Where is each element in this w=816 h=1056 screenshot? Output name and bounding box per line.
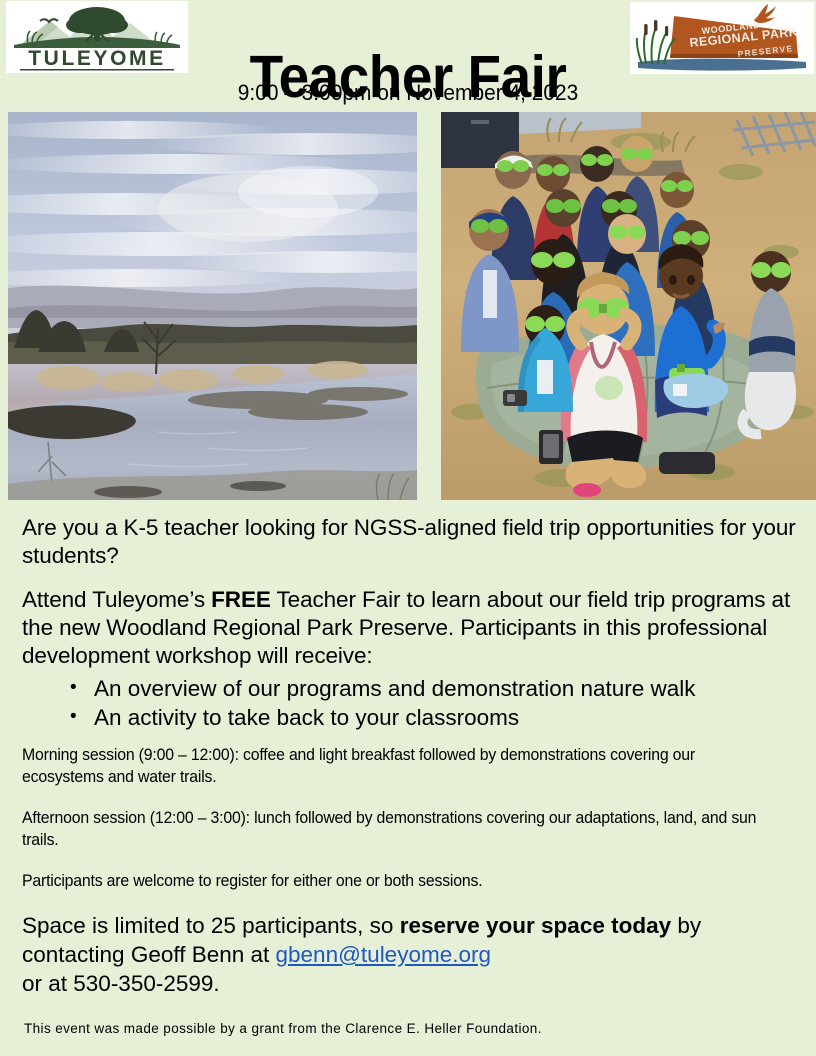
event-datetime: 9:00 – 3:00pm on November 4, 2023 [20, 80, 795, 106]
reserve-emphasis: reserve your space today [400, 913, 671, 938]
attend-paragraph: Attend Tuleyome’s FREE Teacher Fair to l… [22, 586, 802, 670]
contact-paragraph: Space is limited to 25 participants, so … [22, 911, 802, 998]
benefits-list: An overview of our programs and demonstr… [22, 674, 802, 732]
woodland-regional-park-preserve-logo: WOODLAND REGIONAL PARK PRESERVE [630, 2, 814, 74]
list-item: An activity to take back to your classro… [22, 703, 802, 732]
flyer-header: TULEYOME Teacher Fair 9:00 – 3:00pm on N… [0, 0, 816, 112]
photo-wetland-sunset-art [8, 112, 417, 500]
photo-row [0, 112, 816, 504]
flyer-body: Are you a K-5 teacher looking for NGSS-a… [0, 504, 816, 1038]
free-emphasis: FREE [211, 587, 271, 612]
attend-text-pre: Attend Tuleyome’s [22, 587, 211, 612]
park-sign-art: WOODLAND REGIONAL PARK PRESERVE [630, 2, 814, 74]
afternoon-session-paragraph: Afternoon session (12:00 – 3:00): lunch … [22, 807, 771, 851]
contact-phone: or at 530-350-2599. [22, 971, 220, 996]
morning-session-paragraph: Morning session (9:00 – 12:00): coffee a… [22, 744, 771, 788]
grant-footnote: This event was made possible by a grant … [24, 1020, 802, 1038]
photo-wetland-sunset [8, 112, 417, 500]
space-text-pre: Space is limited to 25 participants, so [22, 913, 400, 938]
registration-note: Participants are welcome to register for… [22, 870, 771, 892]
intro-paragraph: Are you a K-5 teacher looking for NGSS-a… [22, 514, 802, 570]
photo-students-binoculars [441, 112, 816, 500]
contact-email-link[interactable]: gbenn@tuleyome.org [276, 942, 491, 967]
photo-students-binoculars-art [441, 112, 816, 500]
list-item: An overview of our programs and demonstr… [22, 674, 802, 703]
